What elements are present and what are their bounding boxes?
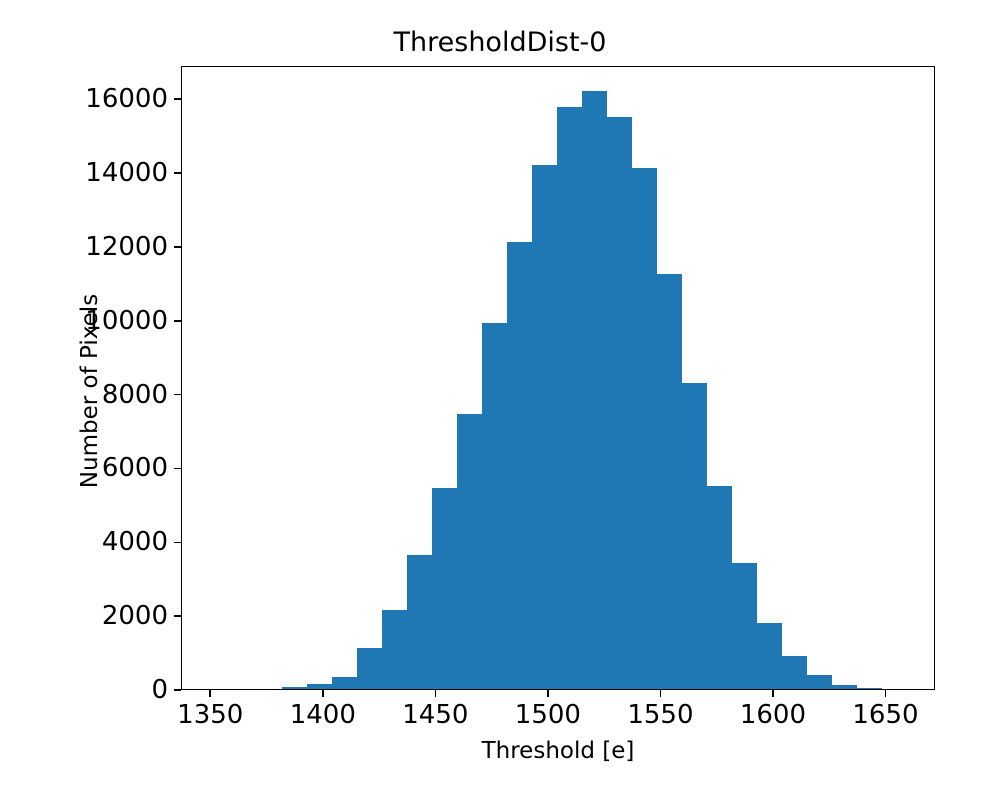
y-axis-label: Number of Pixels xyxy=(77,241,103,541)
histogram-bar xyxy=(707,486,732,689)
x-tick-label: 1500 xyxy=(515,700,581,730)
histogram-bar xyxy=(457,414,482,689)
y-tick-mark xyxy=(174,689,181,691)
y-tick-mark xyxy=(174,615,181,617)
histogram-bar xyxy=(632,168,657,689)
histogram-bar xyxy=(757,623,782,689)
histogram-bar xyxy=(532,165,557,689)
y-tick-mark xyxy=(174,542,181,544)
histogram-bar xyxy=(382,610,407,689)
x-axis-label: Threshold [e] xyxy=(181,738,935,764)
y-tick-mark xyxy=(174,98,181,100)
x-tick-label: 1650 xyxy=(852,700,918,730)
histogram-bar xyxy=(307,684,332,689)
x-tick-label: 1600 xyxy=(740,700,806,730)
histogram-bar xyxy=(582,91,607,689)
plot-axes xyxy=(181,66,935,690)
histogram-bar xyxy=(332,677,357,689)
y-axis-label-wrap: Number of Pixels xyxy=(40,0,41,800)
histogram-bar xyxy=(782,656,807,689)
y-tick-label: 16000 xyxy=(0,84,168,114)
histogram-bar xyxy=(407,555,432,689)
histogram-bar xyxy=(432,488,457,689)
y-tick-mark xyxy=(174,172,181,174)
y-tick-label: 2000 xyxy=(0,601,168,631)
y-tick-mark xyxy=(174,320,181,322)
histogram-bar xyxy=(657,274,682,689)
histogram-figure: ThresholdDist-0 135014001450150015501600… xyxy=(0,0,1000,800)
histogram-bars xyxy=(182,67,934,689)
chart-title: ThresholdDist-0 xyxy=(0,27,1000,58)
histogram-bar xyxy=(482,323,507,689)
x-tick-mark xyxy=(209,690,211,697)
y-tick-mark xyxy=(174,246,181,248)
histogram-bar xyxy=(857,688,882,689)
histogram-bar xyxy=(807,675,832,689)
x-tick-label: 1550 xyxy=(627,700,693,730)
x-tick-label: 1450 xyxy=(402,700,468,730)
x-tick-mark xyxy=(322,690,324,697)
y-tick-mark xyxy=(174,468,181,470)
histogram-bar xyxy=(732,563,757,689)
x-tick-label: 1400 xyxy=(290,700,356,730)
x-tick-mark xyxy=(660,690,662,697)
y-tick-mark xyxy=(174,394,181,396)
histogram-bar xyxy=(282,687,307,689)
x-tick-mark xyxy=(885,690,887,697)
histogram-bar xyxy=(682,383,707,689)
y-tick-label: 14000 xyxy=(0,158,168,188)
x-tick-mark xyxy=(547,690,549,697)
x-tick-label: 1350 xyxy=(177,700,243,730)
x-tick-mark xyxy=(435,690,437,697)
histogram-bar xyxy=(357,648,382,689)
y-tick-label: 0 xyxy=(0,675,168,705)
histogram-bar xyxy=(557,107,582,689)
x-tick-mark xyxy=(772,690,774,697)
histogram-bar xyxy=(507,242,532,689)
histogram-bar xyxy=(607,117,632,689)
histogram-bar xyxy=(832,685,857,689)
